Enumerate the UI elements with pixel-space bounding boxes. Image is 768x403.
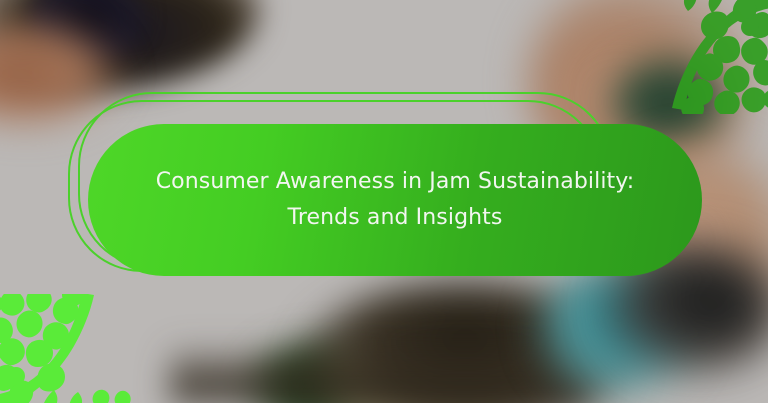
page-title: Consumer Awareness in Jam Sustainability… xyxy=(156,164,635,236)
hero-title-card: Consumer Awareness in Jam Sustainability… xyxy=(88,124,702,276)
title-banner-canvas: Consumer Awareness in Jam Sustainability… xyxy=(0,0,768,403)
floral-vine-ornament-top-right-icon xyxy=(622,0,768,114)
page-title-line-2: Trends and Insights xyxy=(156,200,635,236)
page-title-line-1: Consumer Awareness in Jam Sustainability… xyxy=(156,164,635,200)
floral-vine-ornament-bottom-left-icon xyxy=(0,294,144,403)
background-blur-bottom-strip xyxy=(170,343,590,403)
